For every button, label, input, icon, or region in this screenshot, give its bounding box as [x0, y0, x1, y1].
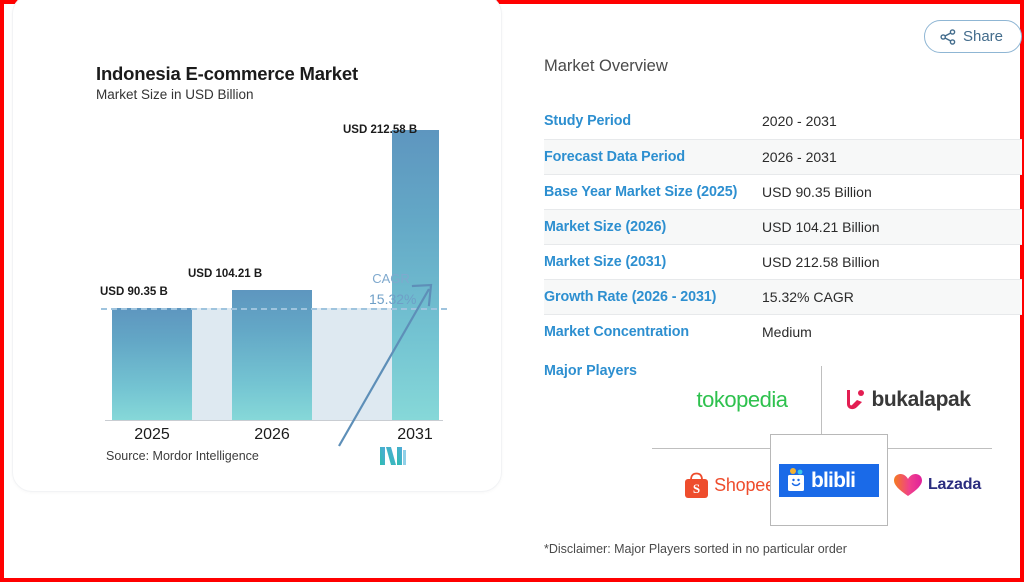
- row-key: Market Concentration: [544, 314, 762, 349]
- source-text: Source: Mordor Intelligence: [106, 449, 259, 463]
- row-value: 15.32% CAGR: [762, 279, 1022, 314]
- chart-band-background: [192, 308, 232, 420]
- chart-source-row: Source: Mordor Intelligence: [106, 447, 406, 465]
- row-value: USD 212.58 Billion: [762, 244, 1022, 279]
- player-logo-tokopedia: tokopedia: [672, 376, 812, 424]
- svg-text:S: S: [693, 481, 700, 496]
- shopee-logo-text: Shopee: [714, 475, 775, 496]
- screenshot-root: Indonesia E-commerce Market Market Size …: [0, 0, 1024, 582]
- lazada-logo-text: Lazada: [928, 476, 981, 494]
- bukalapak-icon: [843, 388, 865, 412]
- bukalapak-logo-text: bukalapak: [871, 388, 970, 412]
- table-row: Growth Rate (2026 - 2031) 15.32% CAGR: [544, 279, 1022, 314]
- table-row: Base Year Market Size (2025) USD 90.35 B…: [544, 174, 1022, 209]
- panel-heading: Market Overview: [544, 57, 668, 76]
- row-value: 2020 - 2031: [762, 104, 1022, 139]
- bar-label-2026: USD 104.21 B: [188, 268, 262, 280]
- row-key: Market Size (2031): [544, 244, 762, 279]
- chart-band-background: [312, 308, 392, 420]
- players-disclaimer: *Disclaimer: Major Players sorted in no …: [544, 542, 847, 556]
- major-players-logo-grid: tokopedia bukalapak S Shopee: [652, 366, 992, 531]
- bar-chart-plot: USD 90.35 B USD 104.21 B USD 212.58 B 20…: [105, 130, 435, 420]
- row-key: Growth Rate (2026 - 2031): [544, 279, 762, 314]
- mordor-intelligence-logo-icon: [380, 447, 406, 465]
- table-row: Market Size (2031) USD 212.58 Billion: [544, 244, 1022, 279]
- bar-label-2031: USD 212.58 B: [343, 124, 417, 136]
- blibli-logo-badge: blibli: [779, 464, 879, 497]
- row-value: 2026 - 2031: [762, 139, 1022, 174]
- x-tick-2026: 2026: [227, 426, 317, 444]
- table-row: Study Period 2020 - 2031: [544, 104, 1022, 139]
- chart-subtitle: Market Size in USD Billion: [96, 87, 254, 102]
- market-overview-table: Study Period 2020 - 2031 Forecast Data P…: [544, 104, 1022, 349]
- tokopedia-logo-text: tokopedia: [697, 387, 788, 413]
- row-key: Market Size (2026): [544, 209, 762, 244]
- market-overview-panel: Share Market Overview Study Period 2020 …: [534, 4, 1024, 582]
- shopee-icon: S: [684, 472, 709, 499]
- share-icon: [940, 29, 956, 45]
- row-key: Forecast Data Period: [544, 139, 762, 174]
- bar-label-2025: USD 90.35 B: [100, 286, 168, 298]
- chart-card: Indonesia E-commerce Market Market Size …: [12, 0, 502, 492]
- cagr-title: CAGR: [372, 271, 410, 286]
- player-logo-blibli: blibli: [770, 434, 888, 526]
- table-row: Forecast Data Period 2026 - 2031: [544, 139, 1022, 174]
- x-axis-line: [105, 420, 443, 421]
- share-button[interactable]: Share: [924, 20, 1022, 53]
- cagr-label: CAGR 15.32%: [369, 270, 413, 309]
- row-value: Medium: [762, 314, 1022, 349]
- row-value: USD 90.35 Billion: [762, 174, 1022, 209]
- major-players-title: Major Players: [544, 363, 637, 379]
- chart-title: Indonesia E-commerce Market: [96, 63, 358, 85]
- x-tick-2025: 2025: [107, 426, 197, 444]
- row-key: Study Period: [544, 104, 762, 139]
- player-logo-bukalapak: bukalapak: [832, 376, 982, 424]
- table-row: Market Concentration Medium: [544, 314, 1022, 349]
- player-logo-lazada: Lazada: [877, 461, 997, 509]
- cagr-value: 15.32%: [369, 289, 413, 309]
- row-value: USD 104.21 Billion: [762, 209, 1022, 244]
- blibli-logo-text: blibli: [811, 470, 855, 491]
- bar-2025: [112, 308, 192, 420]
- table-row: Market Size (2026) USD 104.21 Billion: [544, 209, 1022, 244]
- lazada-icon: [893, 473, 923, 497]
- x-tick-2031: 2031: [370, 426, 460, 444]
- row-key: Base Year Market Size (2025): [544, 174, 762, 209]
- blibli-bag-icon: [784, 467, 808, 493]
- share-button-label: Share: [963, 28, 1003, 45]
